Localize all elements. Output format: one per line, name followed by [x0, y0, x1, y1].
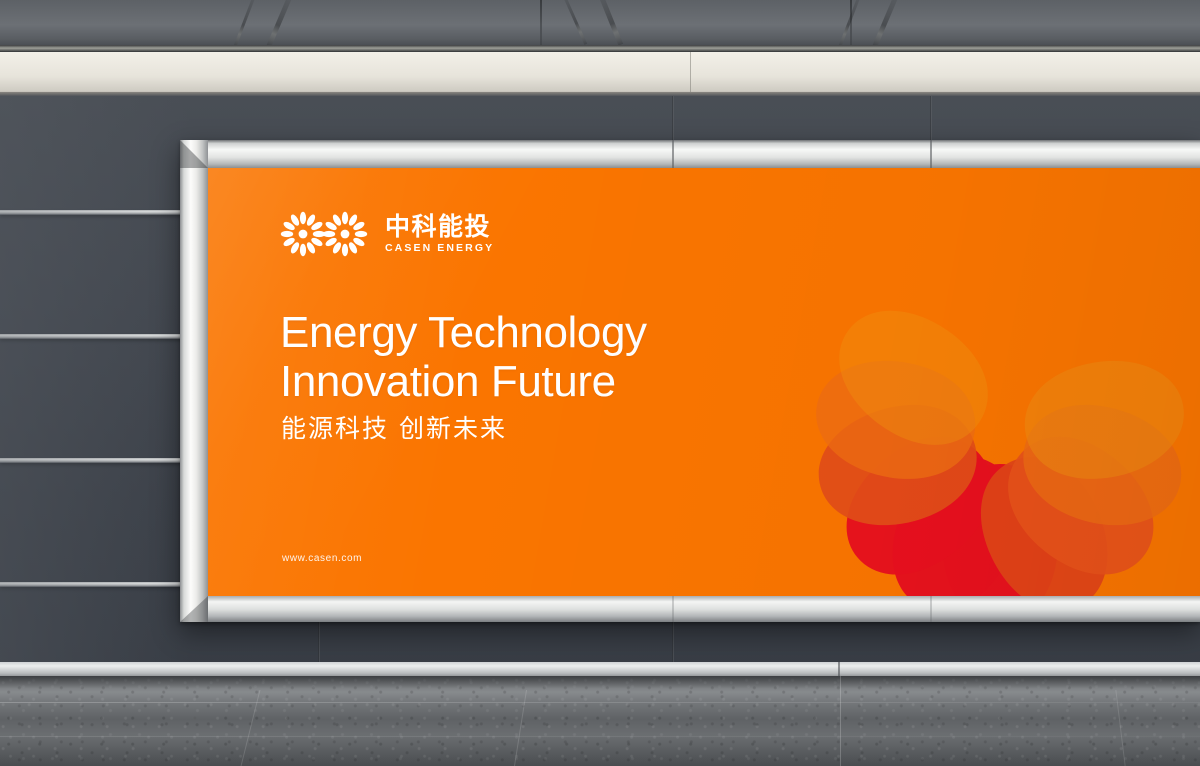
radial-sunburst-graphic — [620, 168, 1200, 596]
floor-contact-shadow — [0, 676, 1200, 692]
ceiling — [0, 0, 1200, 96]
website-url[interactable]: www.casen.com — [282, 553, 362, 565]
frame-bottom-rail — [180, 596, 1200, 622]
brand-wordmark: 中科能投 CASEN ENERGY — [385, 214, 494, 254]
tagline: 能源科技 创新未来 — [281, 415, 507, 443]
headline: Energy Technology Innovation Future — [280, 308, 647, 406]
brand-logo[interactable]: 中科能投 CASEN ENERGY — [280, 210, 494, 258]
brand-name-cn: 中科能投 — [385, 214, 494, 240]
billboard[interactable]: 中科能投 CASEN ENERGY Energy Technology Inno… — [180, 140, 1200, 622]
frame-corner-bevel-top — [180, 140, 208, 168]
frame-corner-bevel-bottom — [180, 596, 208, 622]
frame-top-rail — [180, 140, 1200, 168]
billboard-poster: 中科能投 CASEN ENERGY Energy Technology Inno… — [208, 168, 1200, 596]
headline-line-1: Energy Technology — [280, 308, 647, 357]
billboard-scene: 中科能投 CASEN ENERGY Energy Technology Inno… — [0, 0, 1200, 766]
brand-name-en: CASEN ENERGY — [385, 243, 494, 254]
sunburst-logo-icon — [280, 210, 372, 258]
headline-line-2: Innovation Future — [280, 357, 647, 406]
frame-left-rail — [180, 140, 208, 622]
